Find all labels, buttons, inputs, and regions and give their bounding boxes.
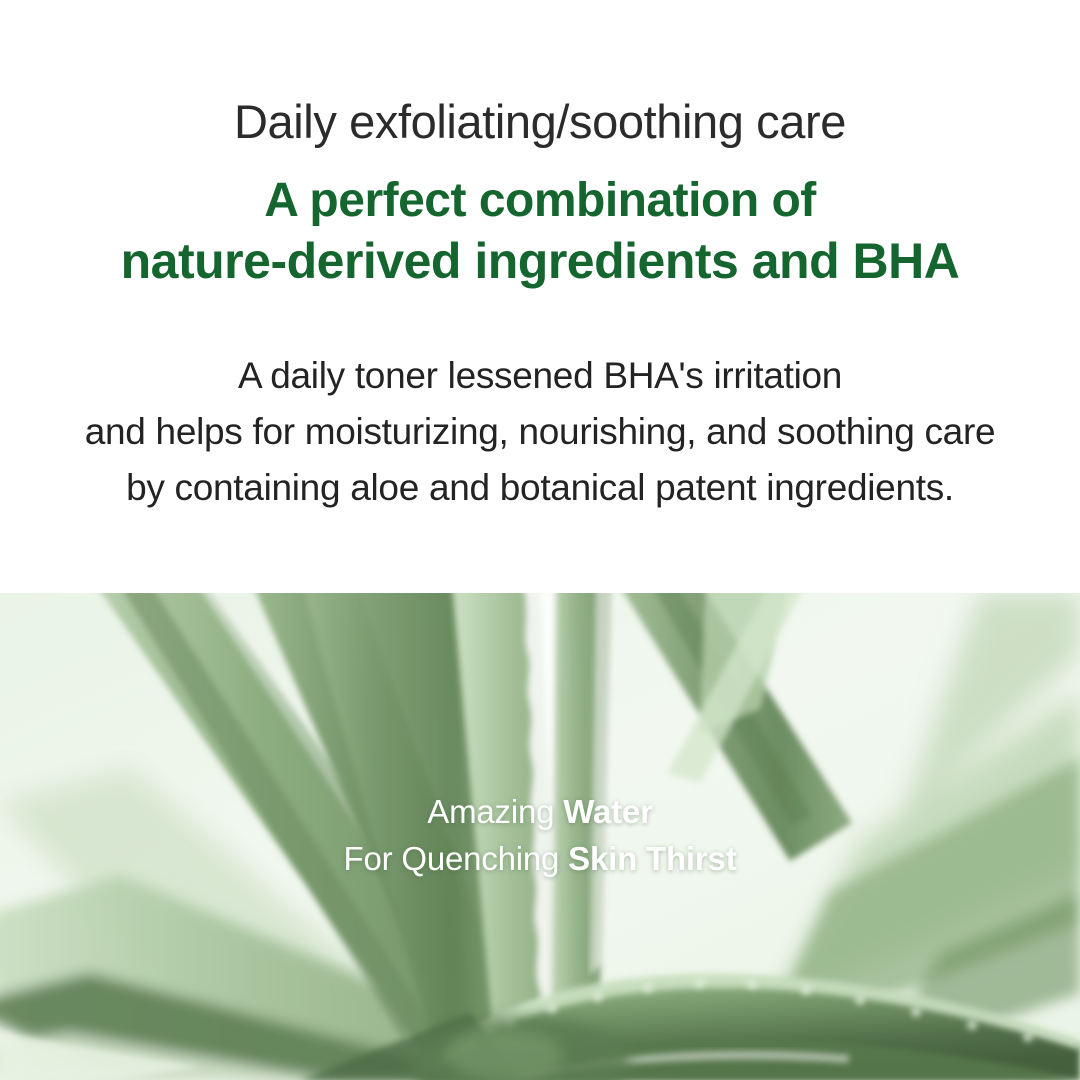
headline-line-2: nature-derived ingredients and BHA (0, 231, 1080, 292)
headline: A perfect combination of nature-derived … (0, 172, 1080, 292)
aloe-illustration (0, 593, 1080, 1080)
body-copy-line-2: and helps for moisturizing, nourishing, … (0, 404, 1080, 460)
body-copy: A daily toner lessened BHA's irritation … (0, 348, 1080, 517)
product-detail-banner: Daily exfoliating/soothing care A perfec… (0, 0, 1080, 1080)
text-panel: Daily exfoliating/soothing care A perfec… (0, 0, 1080, 593)
body-copy-line-3: by containing aloe and botanical patent … (0, 460, 1080, 516)
headline-line-1: A perfect combination of (0, 172, 1080, 231)
aloe-photo: Amazing Water For Quenching Skin Thirst (0, 593, 1080, 1080)
eyebrow-text: Daily exfoliating/soothing care (0, 95, 1080, 149)
body-copy-line-1: A daily toner lessened BHA's irritation (0, 348, 1080, 404)
